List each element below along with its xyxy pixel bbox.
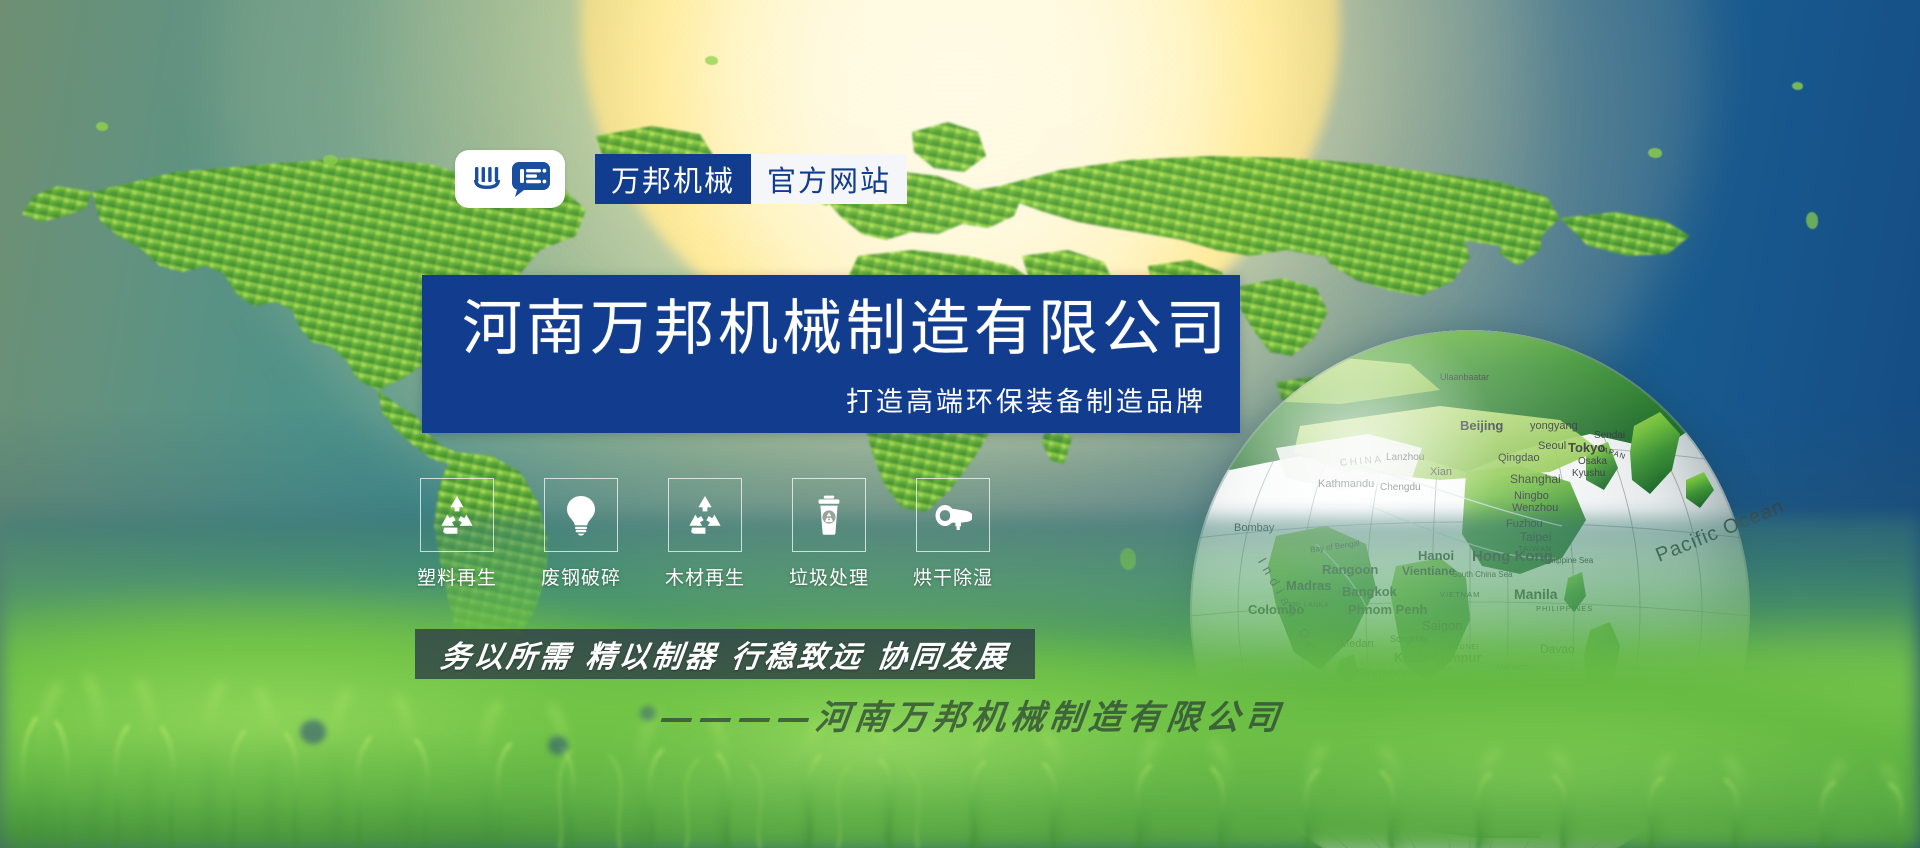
- feature-item-drying-dehumidifying[interactable]: 烘干除湿: [916, 478, 990, 590]
- feature-icon-box[interactable]: [544, 478, 618, 552]
- blower-dryer-icon: [931, 493, 975, 537]
- recycle-icon: [683, 493, 727, 537]
- brand-name-text: 万邦机械: [611, 158, 735, 200]
- brand-header[interactable]: 万邦机械 官方网站: [455, 150, 907, 208]
- feature-icon-box[interactable]: [916, 478, 990, 552]
- berry-bokeh: [300, 720, 326, 744]
- hero-tagline: 打造高端环保装备制造品牌: [846, 380, 1206, 419]
- feature-icon-row: 塑料再生 废钢破碎: [420, 478, 990, 590]
- trash-bin-recycle-icon: [807, 493, 851, 537]
- feature-label: 木材再生: [665, 563, 745, 590]
- feature-label: 废钢破碎: [541, 563, 621, 590]
- leaf-speck: [1806, 212, 1818, 229]
- official-site-text: 官方网站: [767, 158, 891, 200]
- leaf-speck: [96, 122, 108, 131]
- w-monogram-icon: [470, 162, 504, 196]
- slogan-bar: 务以所需 精以制器 行稳致远 协同发展: [415, 629, 1035, 679]
- leaf-speck: [1648, 148, 1662, 158]
- recycle-icon: [435, 493, 479, 537]
- berry-bokeh: [640, 706, 656, 721]
- logo-mark[interactable]: [455, 150, 565, 208]
- slogan-signature: ————河南万邦机械制造有限公司: [657, 690, 1287, 739]
- leaf-speck: [1792, 82, 1803, 90]
- feature-item-wood-recycling[interactable]: 木材再生: [668, 478, 742, 590]
- page-title: 河南万邦机械制造有限公司: [462, 297, 1230, 360]
- feature-label: 烘干除湿: [913, 563, 993, 590]
- hero-title-panel: 河南万邦机械制造有限公司 打造高端环保装备制造品牌: [422, 275, 1240, 433]
- feature-item-waste-treatment[interactable]: 垃圾处理: [792, 478, 866, 590]
- slogan-text: 务以所需 精以制器 行稳致远 协同发展: [438, 632, 1012, 676]
- brand-name-boxes[interactable]: 万邦机械 官方网站: [595, 154, 907, 204]
- feature-item-plastic-recycling[interactable]: 塑料再生: [420, 478, 494, 590]
- feature-label: 塑料再生: [417, 563, 497, 590]
- grass-depth-blur: [0, 728, 1920, 848]
- feature-label: 垃圾处理: [789, 563, 869, 590]
- speech-bubble-e-icon: [511, 160, 551, 198]
- lightbulb-icon: [559, 493, 603, 537]
- leaf-speck: [705, 56, 718, 65]
- berry-bokeh: [548, 736, 568, 755]
- brand-name-box[interactable]: 万邦机械: [595, 154, 751, 204]
- hero-banner: CHINA Beijing Ulaanbaatar Lanzhou Xian C…: [0, 0, 1920, 848]
- leaf-speck: [323, 155, 338, 165]
- feature-icon-box[interactable]: [668, 478, 742, 552]
- feature-item-scrap-steel-crushing[interactable]: 废钢破碎: [544, 478, 618, 590]
- feature-icon-box[interactable]: [792, 478, 866, 552]
- official-site-box[interactable]: 官方网站: [751, 154, 907, 204]
- feature-icon-box[interactable]: [420, 478, 494, 552]
